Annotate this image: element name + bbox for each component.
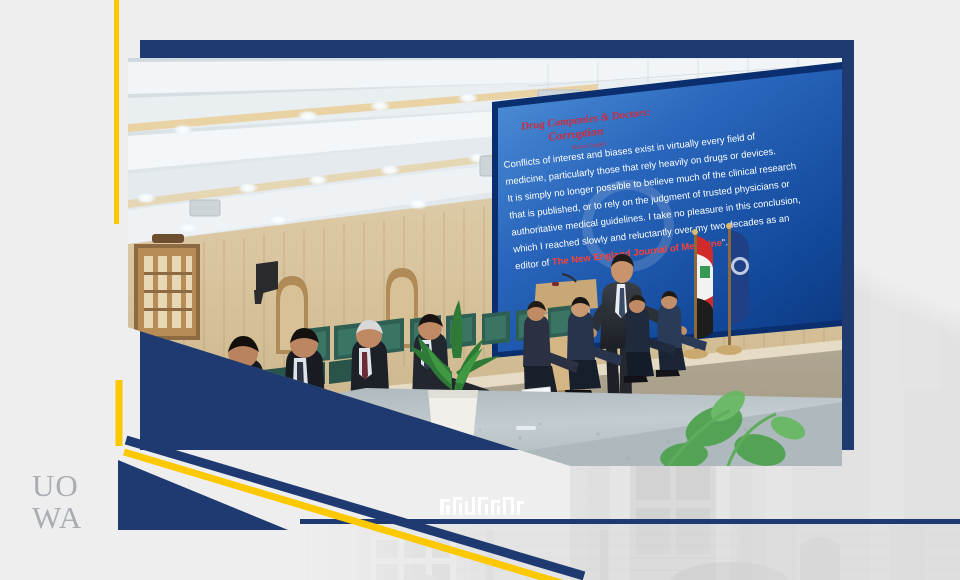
background-building-strip (300, 522, 960, 580)
uowa-wordmark: UO WA (32, 470, 82, 534)
navy-corner-triangle (118, 460, 288, 530)
yellow-vertical-accent-rule (114, 0, 119, 224)
banner-canvas: Drug Companies & Doctors: Corruption Mar… (0, 0, 960, 580)
navy-horizontal-accent-rule (300, 519, 960, 524)
kufic-arabic-logo-icon (440, 495, 524, 519)
wordmark-line-2: WA (32, 502, 82, 534)
wordmark-line-1: UO (32, 470, 82, 502)
